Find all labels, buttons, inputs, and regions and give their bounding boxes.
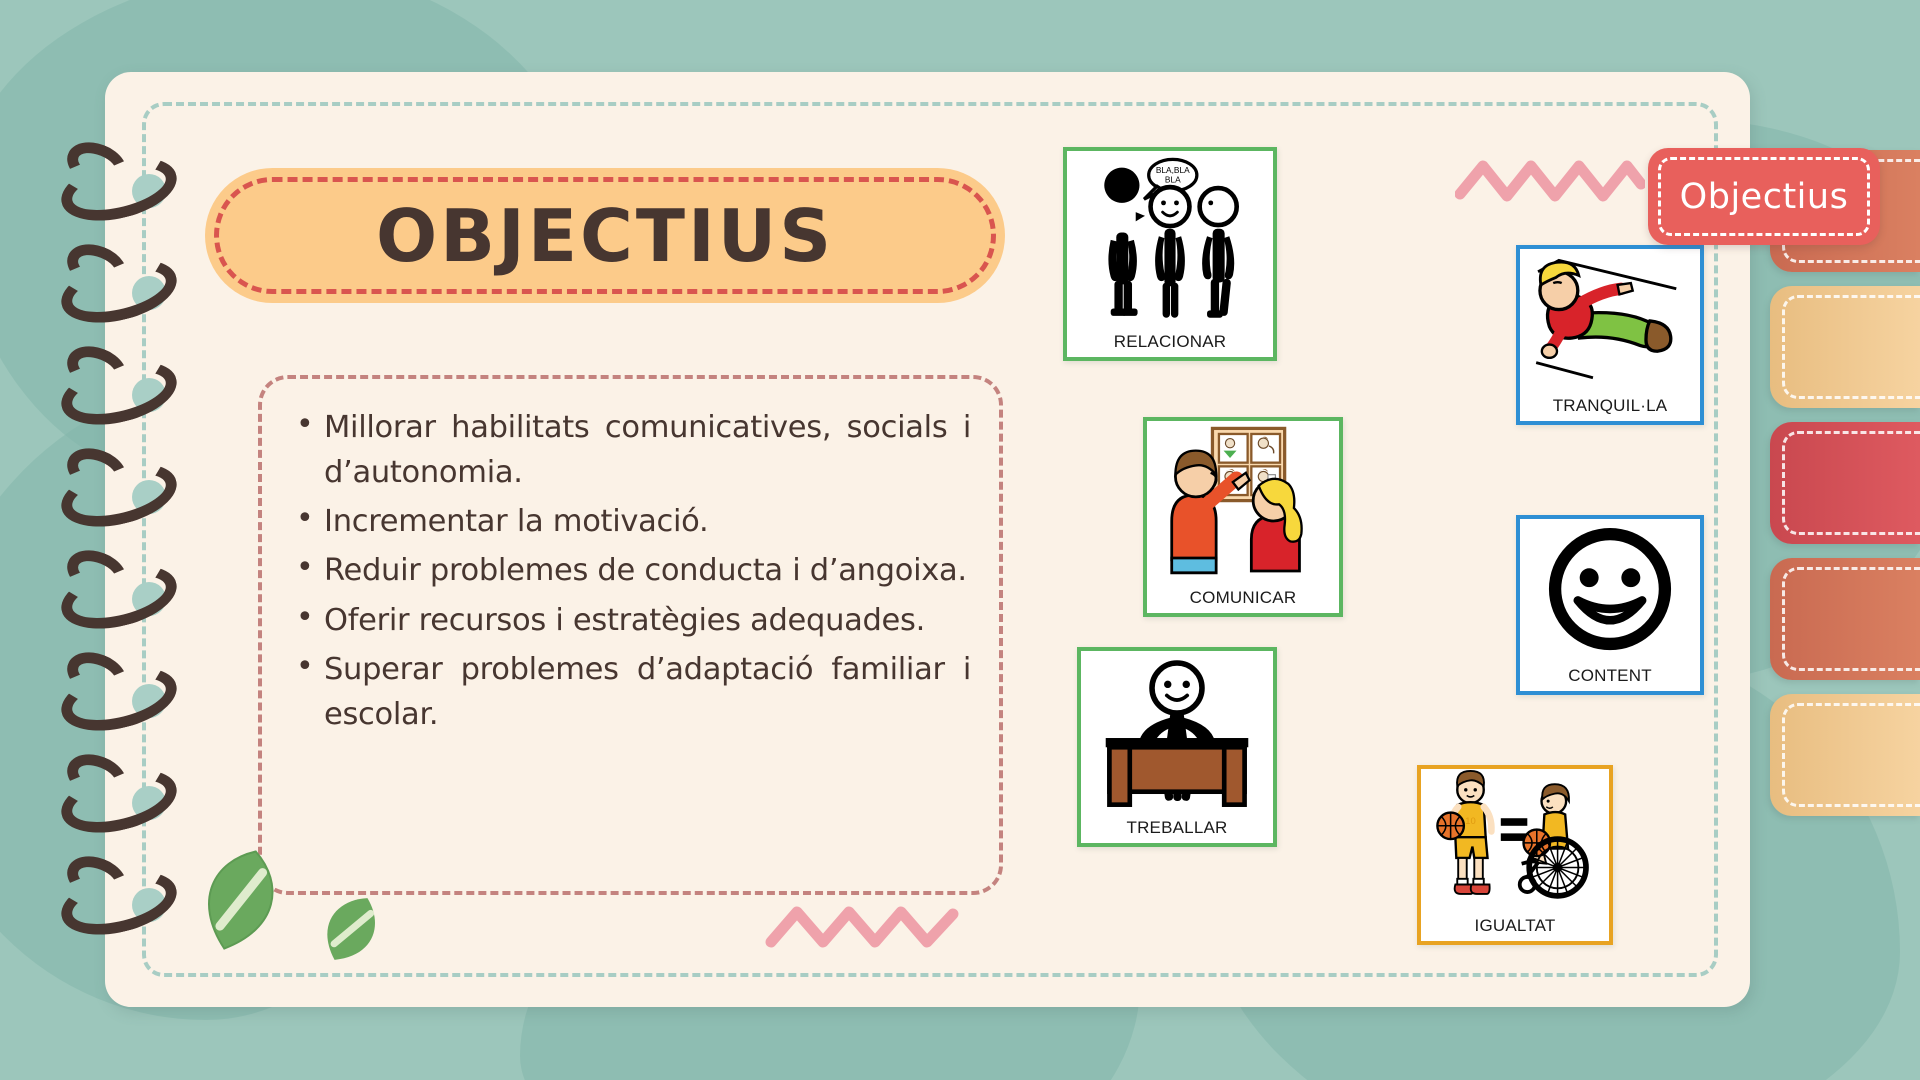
spiral-ring (60, 160, 185, 222)
spiral-ring (60, 568, 185, 630)
objective-text-3: Oferir recursos i estratègies adequades. (324, 603, 925, 638)
side-tab-5[interactable] (1770, 694, 1920, 816)
pictogram-card-treballar[interactable]: TREBALLAR (1077, 647, 1277, 847)
spiral-ring (60, 772, 185, 834)
side-tab-2[interactable] (1770, 286, 1920, 408)
spiral-ring (60, 262, 185, 324)
pictogram-caption: CONTENT (1520, 661, 1700, 691)
person-lying-relaxed-icon (1520, 249, 1700, 391)
basketball-equality-icon: 10 (1421, 769, 1609, 911)
list-item: Superar problemes d’adaptació familiar i… (292, 647, 971, 737)
objective-text-1: Incrementar la motivació. (324, 504, 708, 539)
side-tab-strip (1730, 150, 1920, 816)
side-tab-3[interactable] (1770, 422, 1920, 544)
spiral-ring (60, 670, 185, 732)
slide-canvas: OBJECTIUS Millorar habilitats comunicati… (0, 0, 1920, 1080)
objective-text-4: Superar problemes d’adaptació familiar i… (324, 652, 971, 732)
title-banner: OBJECTIUS (205, 168, 1005, 303)
three-people-talking-icon: BLA,BLA BLA (1067, 151, 1273, 327)
objective-text-2: Reduir problemes de conducta i d’angoixa… (324, 553, 967, 588)
side-tab-4[interactable] (1770, 558, 1920, 680)
list-item: Oferir recursos i estratègies adequades. (292, 598, 971, 643)
pictogram-card-igualtat[interactable]: 10 (1417, 765, 1613, 945)
pictogram-caption: RELACIONAR (1067, 327, 1273, 357)
objectives-box: Millorar habilitats comunicatives, socia… (258, 375, 1003, 895)
pictogram-card-relacionar[interactable]: BLA,BLA BLA (1063, 147, 1277, 361)
pictogram-card-content[interactable]: CONTENT (1516, 515, 1704, 695)
pictogram-caption: COMUNICAR (1147, 583, 1339, 613)
pictogram-caption: TREBALLAR (1081, 813, 1273, 843)
list-item: Reduir problemes de conducta i d’angoixa… (292, 548, 971, 593)
zigzag-decoration-top (1455, 152, 1645, 214)
pictogram-caption: TRANQUIL·LA (1520, 391, 1700, 421)
page-title: OBJECTIUS (205, 168, 1005, 303)
objectius-tab-label: Objectius (1648, 148, 1880, 245)
smiley-face-icon (1520, 519, 1700, 661)
leaf-icon-small (312, 890, 390, 968)
leaf-icon-large (185, 845, 295, 955)
pictogram-caption: IGUALTAT (1421, 911, 1609, 941)
zigzag-decoration-bottom (765, 898, 965, 960)
pictogram-card-tranquilla[interactable]: TRANQUIL·LA (1516, 245, 1704, 425)
list-item: Incrementar la motivació. (292, 499, 971, 544)
pointing-at-picture-board-icon (1147, 421, 1339, 583)
objective-text-0: Millorar habilitats comunicatives, socia… (324, 410, 971, 490)
pictogram-card-comunicar[interactable]: COMUNICAR (1143, 417, 1343, 617)
spiral-ring (60, 466, 185, 528)
svg-text:BLA: BLA (1165, 174, 1181, 184)
list-item: Millorar habilitats comunicatives, socia… (292, 405, 971, 495)
person-at-desk-icon (1081, 651, 1273, 813)
spiral-ring (60, 364, 185, 426)
objectives-list: Millorar habilitats comunicatives, socia… (292, 405, 971, 737)
spiral-ring (60, 874, 185, 936)
objectius-tab-badge[interactable]: Objectius (1648, 148, 1880, 245)
svg-text:10: 10 (1465, 816, 1476, 827)
